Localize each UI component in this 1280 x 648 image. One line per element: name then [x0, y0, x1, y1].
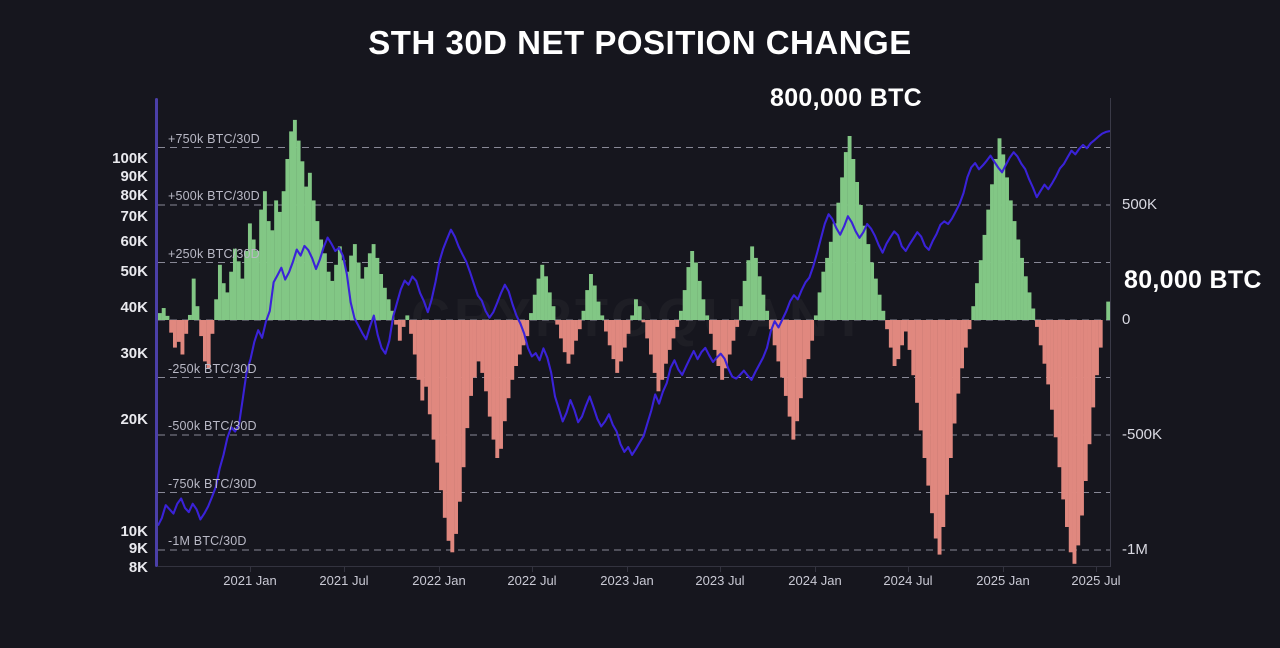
bar	[255, 251, 259, 320]
gridline-label: -1M BTC/30D	[168, 534, 247, 548]
bar	[1016, 240, 1020, 321]
bar	[330, 281, 334, 320]
bar	[1076, 320, 1080, 545]
gridline-label: -750k BTC/30D	[168, 477, 257, 491]
bar	[1091, 320, 1095, 407]
bar	[432, 320, 436, 440]
bar	[229, 272, 233, 320]
bar	[304, 187, 308, 320]
bar	[499, 320, 503, 449]
bar	[833, 223, 837, 320]
bar	[548, 292, 552, 320]
bar	[169, 320, 173, 333]
bar	[1031, 309, 1035, 321]
bar	[402, 320, 406, 327]
x-axis-tick-label: 2025 Jan	[976, 573, 1030, 588]
bar	[874, 279, 878, 320]
x-axis-tick-mark	[627, 566, 628, 572]
bar	[315, 221, 319, 320]
bar	[829, 242, 833, 320]
bar	[945, 320, 949, 495]
page-title: STH 30D NET POSITION CHANGE	[0, 24, 1280, 62]
bar	[934, 320, 938, 539]
x-axis-tick-label: 2021 Jan	[223, 573, 277, 588]
bar	[1073, 320, 1077, 564]
bar	[627, 320, 631, 334]
x-axis-tick-label: 2023 Jul	[695, 573, 744, 588]
bar	[919, 320, 923, 430]
bar	[716, 320, 720, 366]
bar	[473, 320, 477, 378]
bar	[694, 263, 698, 321]
bar	[956, 320, 960, 394]
bar	[285, 159, 289, 320]
y-axis-left-tick-label: 90K	[88, 169, 148, 184]
bar	[889, 320, 893, 348]
bar	[443, 320, 447, 518]
bar	[166, 316, 170, 320]
bar	[495, 320, 499, 458]
bar	[484, 320, 488, 391]
bar	[503, 320, 507, 421]
bar	[1046, 320, 1050, 384]
bar	[683, 290, 687, 320]
y-axis-left-tick-label: 40K	[88, 300, 148, 315]
y-axis-left-ticks: 100K90K80K70K60K50K40K30K20K10K9K8K	[88, 0, 148, 648]
bar	[210, 320, 214, 334]
y-axis-left-tick-label: 80K	[88, 188, 148, 203]
bar	[803, 320, 807, 378]
x-axis-tick-mark	[344, 566, 345, 572]
bar	[372, 244, 376, 320]
x-axis-tick-mark	[908, 566, 909, 572]
bar	[222, 283, 226, 320]
bar	[1088, 320, 1092, 444]
y-axis-right-tick-label: 0	[1122, 312, 1130, 327]
bar	[1050, 320, 1054, 410]
x-axis-tick-mark	[1096, 566, 1097, 572]
bar	[1058, 320, 1062, 467]
bar	[424, 320, 428, 387]
bar	[979, 260, 983, 320]
bar	[840, 177, 844, 320]
bar	[552, 306, 556, 320]
bar	[570, 320, 574, 355]
x-axis-tick-label: 2021 Jul	[319, 573, 368, 588]
bar	[450, 320, 454, 552]
bar	[765, 311, 769, 320]
plot-area	[158, 98, 1110, 565]
bar	[788, 320, 792, 417]
bar	[900, 320, 904, 345]
bar	[758, 276, 762, 320]
bar	[289, 131, 293, 320]
bar	[334, 265, 338, 320]
bar	[881, 311, 885, 320]
bar	[810, 320, 814, 341]
bar	[387, 299, 391, 320]
bar	[746, 260, 750, 320]
bar	[248, 223, 252, 320]
y-axis-right-tick-label: -1M	[1122, 542, 1148, 557]
bar	[960, 320, 964, 368]
bar	[638, 306, 642, 320]
bar	[675, 320, 679, 327]
bar	[199, 320, 203, 336]
bar	[784, 320, 788, 396]
bar	[754, 258, 758, 320]
bar	[405, 315, 409, 320]
bar	[357, 263, 361, 321]
bar	[818, 292, 822, 320]
bar	[428, 320, 432, 414]
bar	[791, 320, 795, 440]
bar	[653, 320, 657, 373]
gridline-label: -250k BTC/30D	[168, 362, 257, 376]
bar	[439, 320, 443, 490]
plot-svg	[158, 98, 1110, 565]
bar	[983, 235, 987, 320]
y-axis-left-tick-label: 9K	[88, 541, 148, 556]
y-axis-left-tick-label: 30K	[88, 346, 148, 361]
bar	[904, 320, 908, 332]
bar	[630, 315, 634, 320]
bar	[278, 212, 282, 320]
bar	[953, 320, 957, 424]
bar	[664, 320, 668, 364]
bar	[1028, 292, 1032, 320]
gridline-label: +500k BTC/30D	[168, 189, 260, 203]
bar	[555, 320, 559, 325]
bar	[417, 320, 421, 380]
y-axis-right-tick-label: 500K	[1122, 197, 1157, 212]
bar	[240, 279, 244, 320]
bar	[986, 210, 990, 320]
bar	[563, 320, 567, 352]
x-axis-tick-label: 2023 Jan	[600, 573, 654, 588]
bar	[698, 281, 702, 320]
bar	[713, 320, 717, 350]
bar	[559, 320, 563, 338]
bar	[593, 286, 597, 321]
bar	[1024, 276, 1028, 320]
bar	[893, 320, 897, 366]
bar	[338, 246, 342, 320]
bar	[608, 320, 612, 345]
bar	[375, 258, 379, 320]
gridline-label: +250k BTC/30D	[168, 247, 260, 261]
bar	[911, 320, 915, 375]
bar	[1106, 302, 1110, 320]
bar	[1095, 320, 1099, 375]
bar	[447, 320, 451, 541]
bar	[968, 320, 972, 329]
bar	[297, 141, 301, 320]
bar	[848, 136, 852, 320]
bar	[743, 281, 747, 320]
bar	[435, 320, 439, 463]
bar	[844, 152, 848, 320]
bar	[540, 265, 544, 320]
chart-canvas: STH 30D NET POSITION CHANGE 800,000 BTC …	[0, 0, 1280, 648]
bar	[728, 320, 732, 355]
bar	[177, 320, 181, 342]
bar	[300, 161, 304, 320]
bar	[612, 320, 616, 359]
bar	[938, 320, 942, 555]
bar	[964, 320, 968, 348]
bar	[649, 320, 653, 355]
bar	[192, 279, 196, 320]
bar	[619, 320, 623, 361]
bar	[394, 320, 398, 325]
bar	[1039, 320, 1043, 345]
bar	[158, 313, 162, 320]
bar	[885, 320, 889, 329]
bar	[735, 320, 739, 327]
x-axis-tick-mark	[250, 566, 251, 572]
bar	[806, 320, 810, 359]
gridline-label: +750k BTC/30D	[168, 132, 260, 146]
bar	[645, 320, 649, 338]
x-axis-tick-mark	[1003, 566, 1004, 572]
bar	[975, 283, 979, 320]
bar	[660, 320, 664, 380]
bar	[642, 320, 646, 322]
bar	[259, 210, 263, 320]
bar	[863, 226, 867, 320]
bar	[908, 320, 912, 350]
bar	[994, 159, 998, 320]
bar	[926, 320, 930, 486]
bar	[225, 292, 229, 320]
bar	[465, 320, 469, 428]
bar	[761, 295, 765, 320]
bar	[398, 320, 402, 341]
bar	[282, 191, 286, 320]
bar	[941, 320, 945, 527]
bar	[218, 265, 222, 320]
bar	[1069, 320, 1073, 552]
y-axis-right-tick-label: -500K	[1122, 427, 1162, 442]
bar	[237, 261, 241, 320]
bar	[188, 315, 192, 320]
bar	[263, 191, 267, 320]
bar	[274, 200, 278, 320]
bar	[162, 308, 166, 320]
bar	[525, 320, 529, 336]
bar	[454, 320, 458, 534]
x-axis-tick-mark	[815, 566, 816, 572]
bar	[413, 320, 417, 355]
bar	[821, 272, 825, 320]
bar	[1001, 154, 1005, 320]
bar	[458, 320, 462, 502]
y-axis-left-tick-label: 100K	[88, 151, 148, 166]
bar	[998, 138, 1002, 320]
bar	[930, 320, 934, 513]
bar	[668, 320, 672, 350]
bar	[1054, 320, 1058, 437]
bar	[604, 320, 608, 332]
bar	[533, 295, 537, 320]
bar	[896, 320, 900, 359]
bar	[859, 205, 863, 320]
bar	[1013, 221, 1017, 320]
bar	[364, 267, 368, 320]
bar	[656, 320, 660, 391]
bar	[731, 320, 735, 341]
bar	[469, 320, 473, 396]
bar	[990, 184, 994, 320]
bar	[915, 320, 919, 403]
x-axis-tick-mark	[439, 566, 440, 572]
bar	[589, 274, 593, 320]
bar	[492, 320, 496, 440]
x-axis-ticks: 2021 Jan2021 Jul2022 Jan2022 Jul2023 Jan…	[0, 573, 1280, 593]
y-axis-left-tick-label: 10K	[88, 524, 148, 539]
bar	[878, 295, 882, 320]
bar	[477, 320, 481, 361]
bar	[851, 159, 855, 320]
bar	[780, 320, 784, 378]
x-axis-tick-label: 2022 Jul	[507, 573, 556, 588]
bar	[971, 306, 975, 320]
bar	[870, 263, 874, 321]
x-axis-tick-mark	[532, 566, 533, 572]
bar	[709, 320, 713, 334]
bar	[1020, 258, 1024, 320]
bar	[701, 299, 705, 320]
bar	[353, 244, 357, 320]
bar	[173, 320, 177, 348]
bar	[383, 288, 387, 320]
bar	[420, 320, 424, 401]
bar	[705, 315, 709, 320]
gridline-label: -500k BTC/30D	[168, 419, 257, 433]
bar	[1080, 320, 1084, 516]
bar	[671, 320, 675, 338]
bar	[750, 246, 754, 320]
bar	[679, 311, 683, 320]
bar	[585, 290, 589, 320]
bar	[634, 299, 638, 320]
bar	[409, 320, 413, 334]
bar	[799, 320, 803, 398]
bar	[795, 320, 799, 421]
bar	[623, 320, 627, 348]
bar	[720, 320, 724, 380]
x-axis-tick-label: 2025 Jul	[1071, 573, 1120, 588]
bar	[836, 203, 840, 320]
bar	[949, 320, 953, 458]
bar	[360, 279, 364, 320]
bar	[244, 251, 248, 320]
x-axis-tick-label: 2024 Jan	[788, 573, 842, 588]
bar	[600, 315, 604, 320]
bar	[462, 320, 466, 467]
bar	[567, 320, 571, 364]
bar	[308, 173, 312, 320]
bar	[327, 272, 331, 320]
bar	[866, 244, 870, 320]
bar	[582, 311, 586, 320]
bar	[597, 302, 601, 320]
bar	[615, 320, 619, 373]
bar	[1061, 320, 1065, 499]
bar	[323, 253, 327, 320]
bar	[537, 279, 541, 320]
bar	[507, 320, 511, 398]
bar	[1084, 320, 1088, 481]
y-axis-right-ticks: 500K0-500K-1M	[1122, 0, 1232, 648]
bar	[184, 320, 188, 334]
bar	[1065, 320, 1069, 527]
bar	[203, 320, 207, 361]
y-axis-left-tick-label: 70K	[88, 209, 148, 224]
bar	[825, 258, 829, 320]
y-axis-left-tick-label: 50K	[88, 264, 148, 279]
bar	[514, 320, 518, 366]
bar	[293, 120, 297, 320]
bar	[1043, 320, 1047, 364]
bar	[379, 274, 383, 320]
bar	[544, 276, 548, 320]
bar	[180, 320, 184, 355]
bar	[855, 182, 859, 320]
x-axis-tick-mark	[720, 566, 721, 572]
bar	[1009, 200, 1013, 320]
bar	[480, 320, 484, 373]
axis-bottom-spine	[158, 566, 1110, 567]
bar	[739, 306, 743, 320]
bar	[1035, 320, 1039, 327]
bar	[1099, 320, 1103, 348]
bar	[368, 253, 372, 320]
bar	[1005, 177, 1009, 320]
bar	[923, 320, 927, 458]
bar	[214, 299, 218, 320]
x-axis-tick-label: 2022 Jan	[412, 573, 466, 588]
y-axis-left-tick-label: 60K	[88, 234, 148, 249]
y-axis-left-tick-label: 20K	[88, 412, 148, 427]
bar	[578, 320, 582, 329]
bar	[488, 320, 492, 417]
bar	[686, 267, 690, 320]
bar	[195, 306, 199, 320]
bar	[529, 313, 533, 320]
x-axis-tick-label: 2024 Jul	[883, 573, 932, 588]
bar	[690, 251, 694, 320]
bar	[814, 315, 818, 320]
axis-right-spine	[1110, 98, 1111, 567]
bar	[574, 320, 578, 341]
bar	[510, 320, 514, 380]
